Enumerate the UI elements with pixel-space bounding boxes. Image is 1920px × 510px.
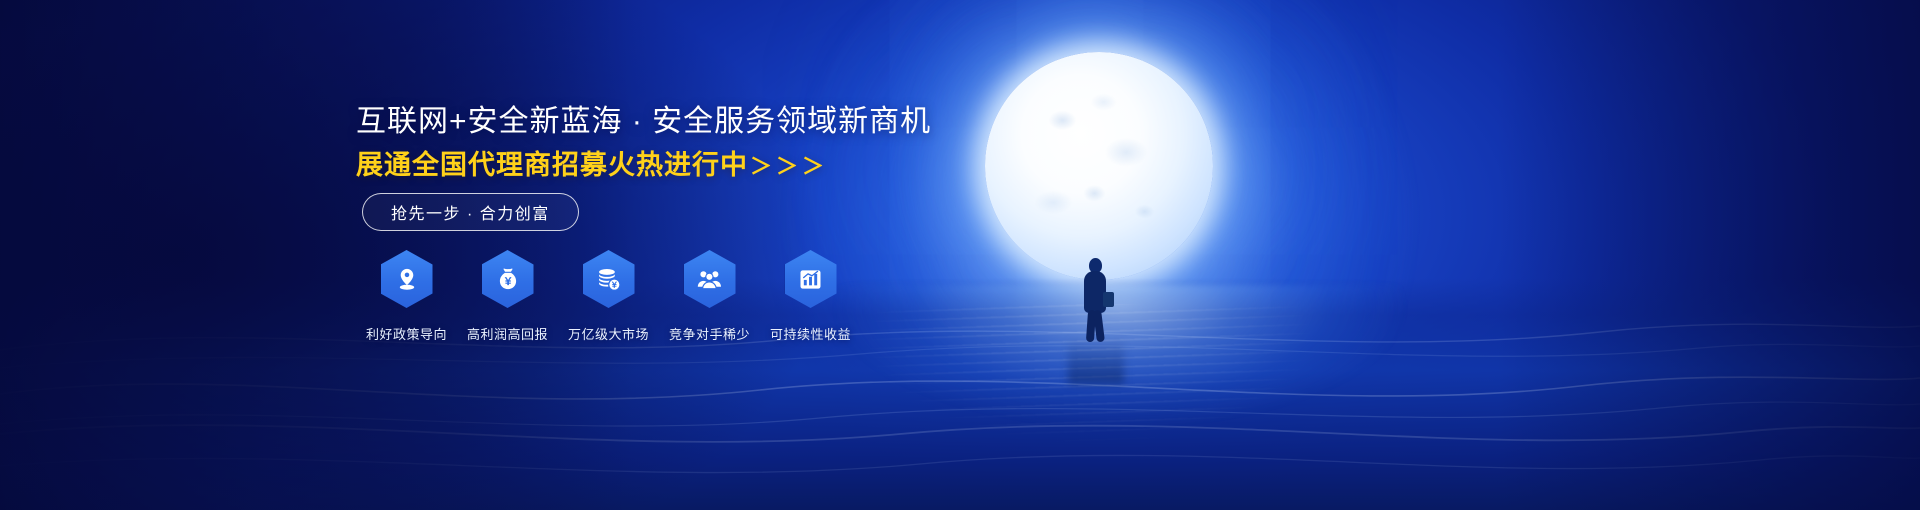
hexagon-badge — [482, 250, 534, 308]
feature-item-competition[interactable]: 竞争对手稀少 — [659, 250, 760, 343]
banner-subheadline: 展通全国代理商招募火热进行中＞＞＞ — [356, 143, 828, 182]
hexagon-badge — [684, 250, 736, 308]
hexagon-badge — [583, 250, 635, 308]
feature-label: 万亿级大市场 — [568, 324, 649, 343]
feature-item-profit[interactable]: 高利润高回报 — [457, 250, 558, 343]
coin-stack-icon — [595, 266, 622, 293]
feature-item-policy[interactable]: 利好政策导向 — [356, 250, 457, 343]
feature-label: 利好政策导向 — [366, 324, 447, 343]
money-bag-icon — [495, 266, 521, 292]
promo-banner: 互联网+安全新蓝海 · 安全服务领域新商机 展通全国代理商招募火热进行中＞＞＞ … — [0, 0, 1920, 510]
subheadline-text: 展通全国代理商招募火热进行中 — [356, 150, 748, 180]
slogan-pill-button[interactable]: 抢先一步 · 合力创富 — [362, 193, 579, 231]
feature-label: 可持续性收益 — [770, 324, 851, 343]
hexagon-badge — [785, 250, 837, 308]
feature-label: 竞争对手稀少 — [669, 324, 750, 343]
bar-chart-icon — [798, 267, 823, 292]
banner-headline: 互联网+安全新蓝海 · 安全服务领域新商机 — [356, 96, 931, 140]
people-group-icon — [696, 266, 723, 293]
location-pin-icon — [394, 266, 420, 292]
feature-list: 利好政策导向 高利润高回报 — [356, 250, 861, 343]
feature-item-sustainable[interactable]: 可持续性收益 — [760, 250, 861, 343]
hexagon-badge — [381, 250, 433, 308]
arrows-icon: ＞＞＞ — [750, 154, 828, 179]
banner-content: 互联网+安全新蓝海 · 安全服务领域新商机 展通全国代理商招募火热进行中＞＞＞ … — [0, 0, 1920, 510]
feature-item-market[interactable]: 万亿级大市场 — [558, 250, 659, 343]
feature-label: 高利润高回报 — [467, 324, 548, 343]
